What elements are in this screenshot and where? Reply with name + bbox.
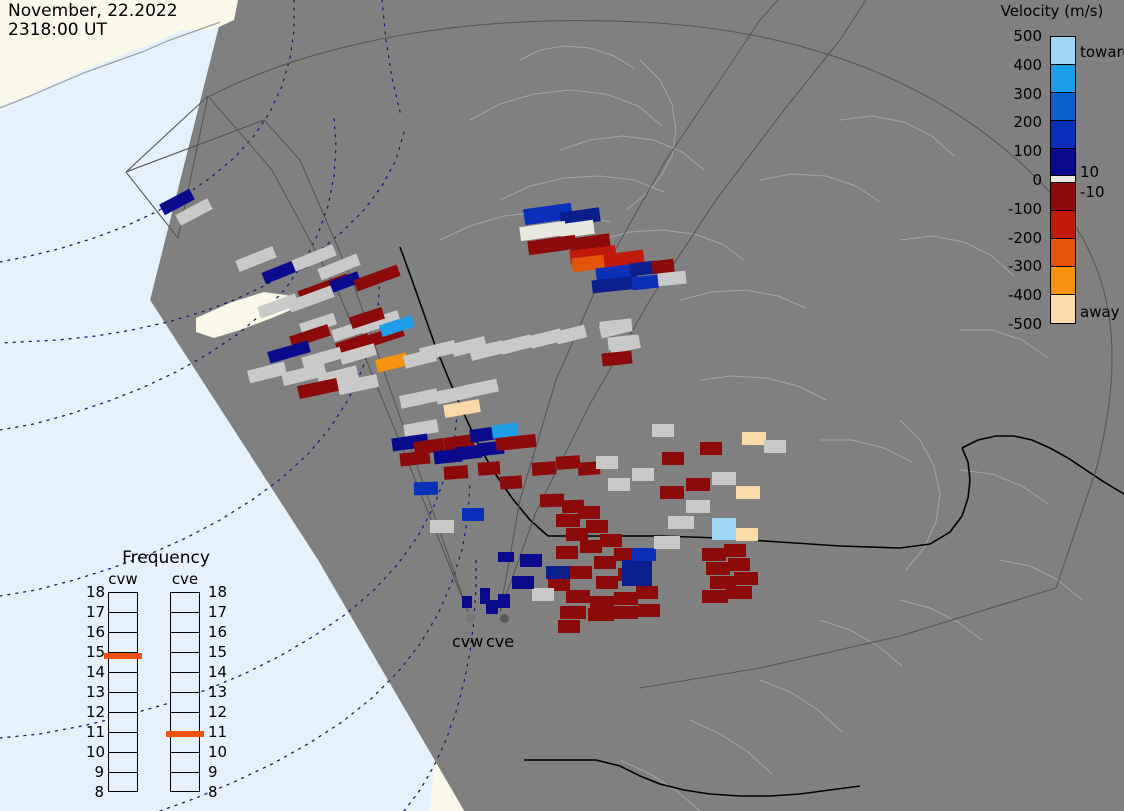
site-label-cvw: cvw <box>452 632 483 651</box>
timestamp-label: November, 22.2022 2318:00 UT <box>8 2 178 40</box>
velocity-cell <box>734 572 758 585</box>
frequency-tick-cvw: 11 <box>86 723 104 741</box>
velocity-cell <box>608 478 630 491</box>
frequency-tick-cve: 9 <box>208 763 218 781</box>
timestamp-time: 2318:00 UT <box>8 20 107 40</box>
velocity-cell <box>700 442 722 455</box>
radar-map-figure: November, 22.2022 2318:00 UT Velocity (m… <box>0 0 1124 811</box>
colorbar-swatch <box>1051 295 1075 323</box>
frequency-tick-cve: 8 <box>208 783 218 801</box>
velocity-cell <box>668 516 694 529</box>
velocity-cell <box>430 520 454 533</box>
velocity-cell <box>724 544 746 557</box>
colorbar-swatch <box>1051 267 1075 295</box>
velocity-cell <box>462 596 472 608</box>
frequency-segment <box>109 593 137 613</box>
colorbar-tick: 0 <box>1032 171 1042 189</box>
site-label-cve: cve <box>486 632 514 651</box>
velocity-cell <box>590 596 614 609</box>
frequency-segment <box>109 713 137 733</box>
velocity-cell <box>414 482 438 496</box>
frequency-segment <box>171 593 199 613</box>
frequency-tick-cvw: 14 <box>86 663 104 681</box>
frequency-tick-cve: 14 <box>208 663 227 681</box>
frequency-segment <box>109 773 137 793</box>
frequency-bar-cvw <box>108 592 138 792</box>
frequency-segment <box>109 733 137 753</box>
velocity-cell <box>480 588 490 604</box>
velocity-cell <box>532 461 557 476</box>
frequency-tick-cvw: 12 <box>86 703 104 721</box>
velocity-cell <box>540 494 564 508</box>
velocity-cell <box>742 432 766 445</box>
frequency-legend: Frequency cvw18171615141312111098cve1817… <box>86 548 246 788</box>
frequency-segment <box>171 673 199 693</box>
velocity-cell <box>578 506 600 519</box>
colorbar-tick: 500 <box>1013 27 1042 45</box>
velocity-cell <box>660 486 684 499</box>
velocity-cell <box>702 548 726 561</box>
colorbar-tick: -400 <box>1008 286 1042 304</box>
velocity-cell <box>736 528 758 541</box>
colorbar-tick: 200 <box>1013 113 1042 131</box>
colorbar-swatch <box>1051 183 1075 211</box>
frequency-segment <box>171 633 199 653</box>
colorbar-side-labels: toward10-10away <box>1080 0 1124 340</box>
frequency-segment <box>109 753 137 773</box>
colorbar-swatch <box>1051 149 1075 177</box>
colorbar-tick: 300 <box>1013 85 1042 103</box>
velocity-cell <box>444 465 469 480</box>
velocity-cell <box>652 424 674 437</box>
colorbar-swatches <box>1050 36 1076 324</box>
velocity-cell <box>622 560 652 586</box>
frequency-segment <box>171 753 199 773</box>
colorbar-tick: -500 <box>1008 315 1042 333</box>
colorbar-swatch <box>1051 37 1075 65</box>
velocity-cell <box>636 586 658 599</box>
colorbar-toward-label: toward <box>1080 43 1124 61</box>
velocity-cell <box>631 275 658 291</box>
velocity-cell <box>478 461 501 476</box>
velocity-cell <box>532 588 554 601</box>
timestamp-date: November, 22.2022 <box>8 1 178 21</box>
frequency-marker-cve <box>166 731 204 737</box>
frequency-column-title-cve: cve <box>162 570 208 588</box>
colorbar-swatch <box>1051 176 1075 183</box>
velocity-cell <box>686 478 710 491</box>
frequency-segment <box>171 713 199 733</box>
colorbar-away-label: away <box>1080 303 1120 321</box>
frequency-segment <box>171 613 199 633</box>
velocity-cell <box>520 554 542 567</box>
frequency-segment <box>171 773 199 793</box>
frequency-tick-cvw: 15 <box>86 643 104 661</box>
velocity-cell <box>588 608 614 621</box>
velocity-cell <box>580 540 602 553</box>
velocity-cell <box>566 590 590 603</box>
colorbar-tick: 400 <box>1013 56 1042 74</box>
site-dot-cve[interactable] <box>500 614 509 623</box>
velocity-cell <box>512 576 534 589</box>
velocity-cell <box>632 468 654 481</box>
velocity-cell <box>686 500 710 513</box>
velocity-cell <box>702 590 728 603</box>
colorbar-swatch <box>1051 211 1075 239</box>
colorbar-swatch <box>1051 65 1075 93</box>
frequency-segment <box>109 633 137 653</box>
velocity-cell <box>662 452 684 465</box>
frequency-tick-cvw: 10 <box>86 743 104 761</box>
velocity-cell <box>498 552 514 562</box>
colorbar-tick-labels: 5004003002001000-100-200-300-400-500 <box>980 0 1046 340</box>
frequency-marker-cvw <box>104 653 142 659</box>
velocity-cell <box>600 534 622 547</box>
frequency-segment <box>171 693 199 713</box>
frequency-segment <box>109 673 137 693</box>
colorbar-negative-threshold-label: -10 <box>1080 183 1105 201</box>
frequency-tick-cvw: 16 <box>86 623 104 641</box>
frequency-legend-title: Frequency <box>86 548 246 568</box>
velocity-cell <box>558 620 580 633</box>
frequency-tick-cve: 13 <box>208 683 227 701</box>
colorbar-tick: -300 <box>1008 257 1042 275</box>
velocity-cell <box>651 259 674 275</box>
velocity-cell <box>726 586 752 599</box>
frequency-tick-cvw: 8 <box>86 783 104 801</box>
colorbar-swatch <box>1051 93 1075 121</box>
velocity-cell <box>706 562 730 575</box>
velocity-cell <box>566 528 588 541</box>
velocity-cell <box>500 475 523 490</box>
frequency-tick-cvw: 18 <box>86 583 104 601</box>
colorbar-tick: -100 <box>1008 200 1042 218</box>
velocity-cell <box>570 566 592 579</box>
site-dot-cvw[interactable] <box>466 614 475 623</box>
frequency-bar-cve <box>170 592 200 792</box>
velocity-cell <box>614 606 638 619</box>
frequency-column-title-cvw: cvw <box>100 570 146 588</box>
velocity-cell <box>712 518 736 540</box>
velocity-cell <box>596 576 618 589</box>
velocity-cell <box>498 594 510 608</box>
velocity-cell <box>556 514 580 527</box>
frequency-segment <box>171 653 199 673</box>
frequency-segment <box>109 693 137 713</box>
colorbar-swatch <box>1051 239 1075 267</box>
velocity-cell <box>614 592 638 605</box>
velocity-cell <box>654 536 680 549</box>
velocity-cell <box>556 455 581 470</box>
colorbar-tick: -200 <box>1008 229 1042 247</box>
colorbar-swatch <box>1051 121 1075 149</box>
frequency-tick-cvw: 17 <box>86 603 104 621</box>
velocity-cell <box>560 606 586 619</box>
colorbar-positive-threshold-label: 10 <box>1080 163 1099 181</box>
frequency-tick-cve: 17 <box>208 603 227 621</box>
frequency-tick-cve: 15 <box>208 643 227 661</box>
colorbar-tick: 100 <box>1013 142 1042 160</box>
velocity-colorbar: Velocity (m/s) 5004003002001000-100-200-… <box>980 0 1124 340</box>
velocity-cell <box>462 508 484 521</box>
velocity-cell <box>556 546 578 559</box>
velocity-cell <box>638 604 660 617</box>
velocity-cell <box>586 520 608 533</box>
velocity-cell <box>736 486 760 499</box>
frequency-segment <box>109 613 137 633</box>
frequency-tick-cve: 11 <box>208 723 227 741</box>
frequency-tick-cvw: 13 <box>86 683 104 701</box>
velocity-cell <box>596 456 618 469</box>
frequency-tick-cvw: 9 <box>86 763 104 781</box>
velocity-cell <box>728 558 750 571</box>
velocity-cell <box>546 566 570 579</box>
frequency-tick-cve: 12 <box>208 703 227 721</box>
velocity-cell <box>594 556 616 569</box>
frequency-tick-cve: 10 <box>208 743 227 761</box>
velocity-cell <box>712 472 736 485</box>
frequency-tick-cve: 16 <box>208 623 227 641</box>
velocity-cell <box>632 548 656 561</box>
velocity-cell <box>764 440 786 453</box>
frequency-tick-cve: 18 <box>208 583 227 601</box>
